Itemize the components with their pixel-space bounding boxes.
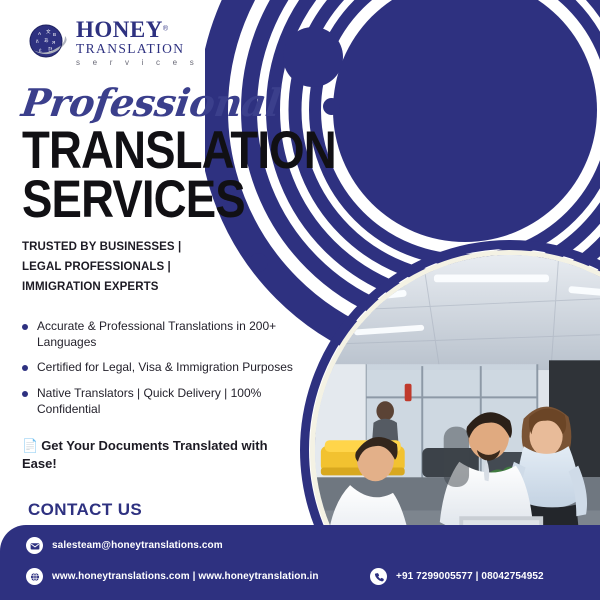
registered-mark-icon: ® [163,26,168,33]
list-item: Native Translators | Quick Delivery | 10… [22,385,307,417]
bullet-text: Accurate & Professional Translations in … [37,318,307,350]
headline-line-2: SERVICES [22,177,271,224]
svg-text:文: 文 [46,28,51,35]
headline-line-1: TRANSLATION [22,128,271,175]
globe-icon [26,568,43,585]
envelope-icon [26,537,43,554]
decor-circle-small [323,98,340,115]
cta-text: 📄Get Your Documents Translated with Ease… [22,437,302,472]
contact-footer-bar: salesteam@honeytranslations.com www.hone… [0,525,600,600]
tagline-line-3: IMMIGRATION EXPERTS [22,278,292,298]
footer-website[interactable]: www.honeytranslations.com | www.honeytra… [26,568,319,585]
headline-script-word: Professional [19,84,314,122]
footer-email-text: salesteam@honeytranslations.com [52,540,223,551]
document-emoji-icon: 📄 [22,438,38,453]
bullet-text: Native Translators | Quick Delivery | 10… [37,385,307,417]
contact-us-heading: CONTACT US [28,500,142,520]
phone-icon [370,568,387,585]
logo-wordmark: HONEY® TRANSLATION s e r v i c e s [76,18,199,67]
poster-canvas: A文B ñあЯ ع한 HONEY® TRANSLATION s e r v i … [0,0,600,600]
bullet-dot-icon [22,391,28,397]
bullet-text: Certified for Legal, Visa & Immigration … [37,359,293,375]
footer-email[interactable]: salesteam@honeytranslations.com [26,537,223,554]
svg-text:Я: Я [52,40,55,45]
globe-icon: A文B ñあЯ ع한 [27,22,67,62]
svg-text:B: B [53,32,56,37]
list-item: Certified for Legal, Visa & Immigration … [22,359,307,375]
headline-block: Professional TRANSLATION SERVICES [22,84,312,223]
bullet-dot-icon [22,365,28,371]
logo-line-translation: TRANSLATION [76,42,199,56]
footer-phone-text: +91 7299005577 | 08042754952 [396,571,544,582]
tagline-line-2: LEGAL PROFESSIONALS | [22,258,292,278]
svg-text:ñ: ñ [36,39,39,44]
bullet-dot-icon [22,324,28,330]
logo-line-services: s e r v i c e s [76,59,199,67]
tagline-block: TRUSTED BY BUSINESSES | LEGAL PROFESSION… [22,238,292,297]
feature-bullet-list: Accurate & Professional Translations in … [22,318,307,426]
list-item: Accurate & Professional Translations in … [22,318,307,350]
decor-circle-large [283,27,343,87]
tagline-line-1: TRUSTED BY BUSINESSES | [22,238,292,258]
logo-brand-name: HONEY [76,18,163,41]
brand-logo[interactable]: A文B ñあЯ ع한 HONEY® TRANSLATION s e r v i … [27,18,199,67]
cta-label: Get Your Documents Translated with Ease! [22,438,268,471]
footer-phone[interactable]: +91 7299005577 | 08042754952 [370,568,544,585]
footer-website-text: www.honeytranslations.com | www.honeytra… [52,571,319,582]
